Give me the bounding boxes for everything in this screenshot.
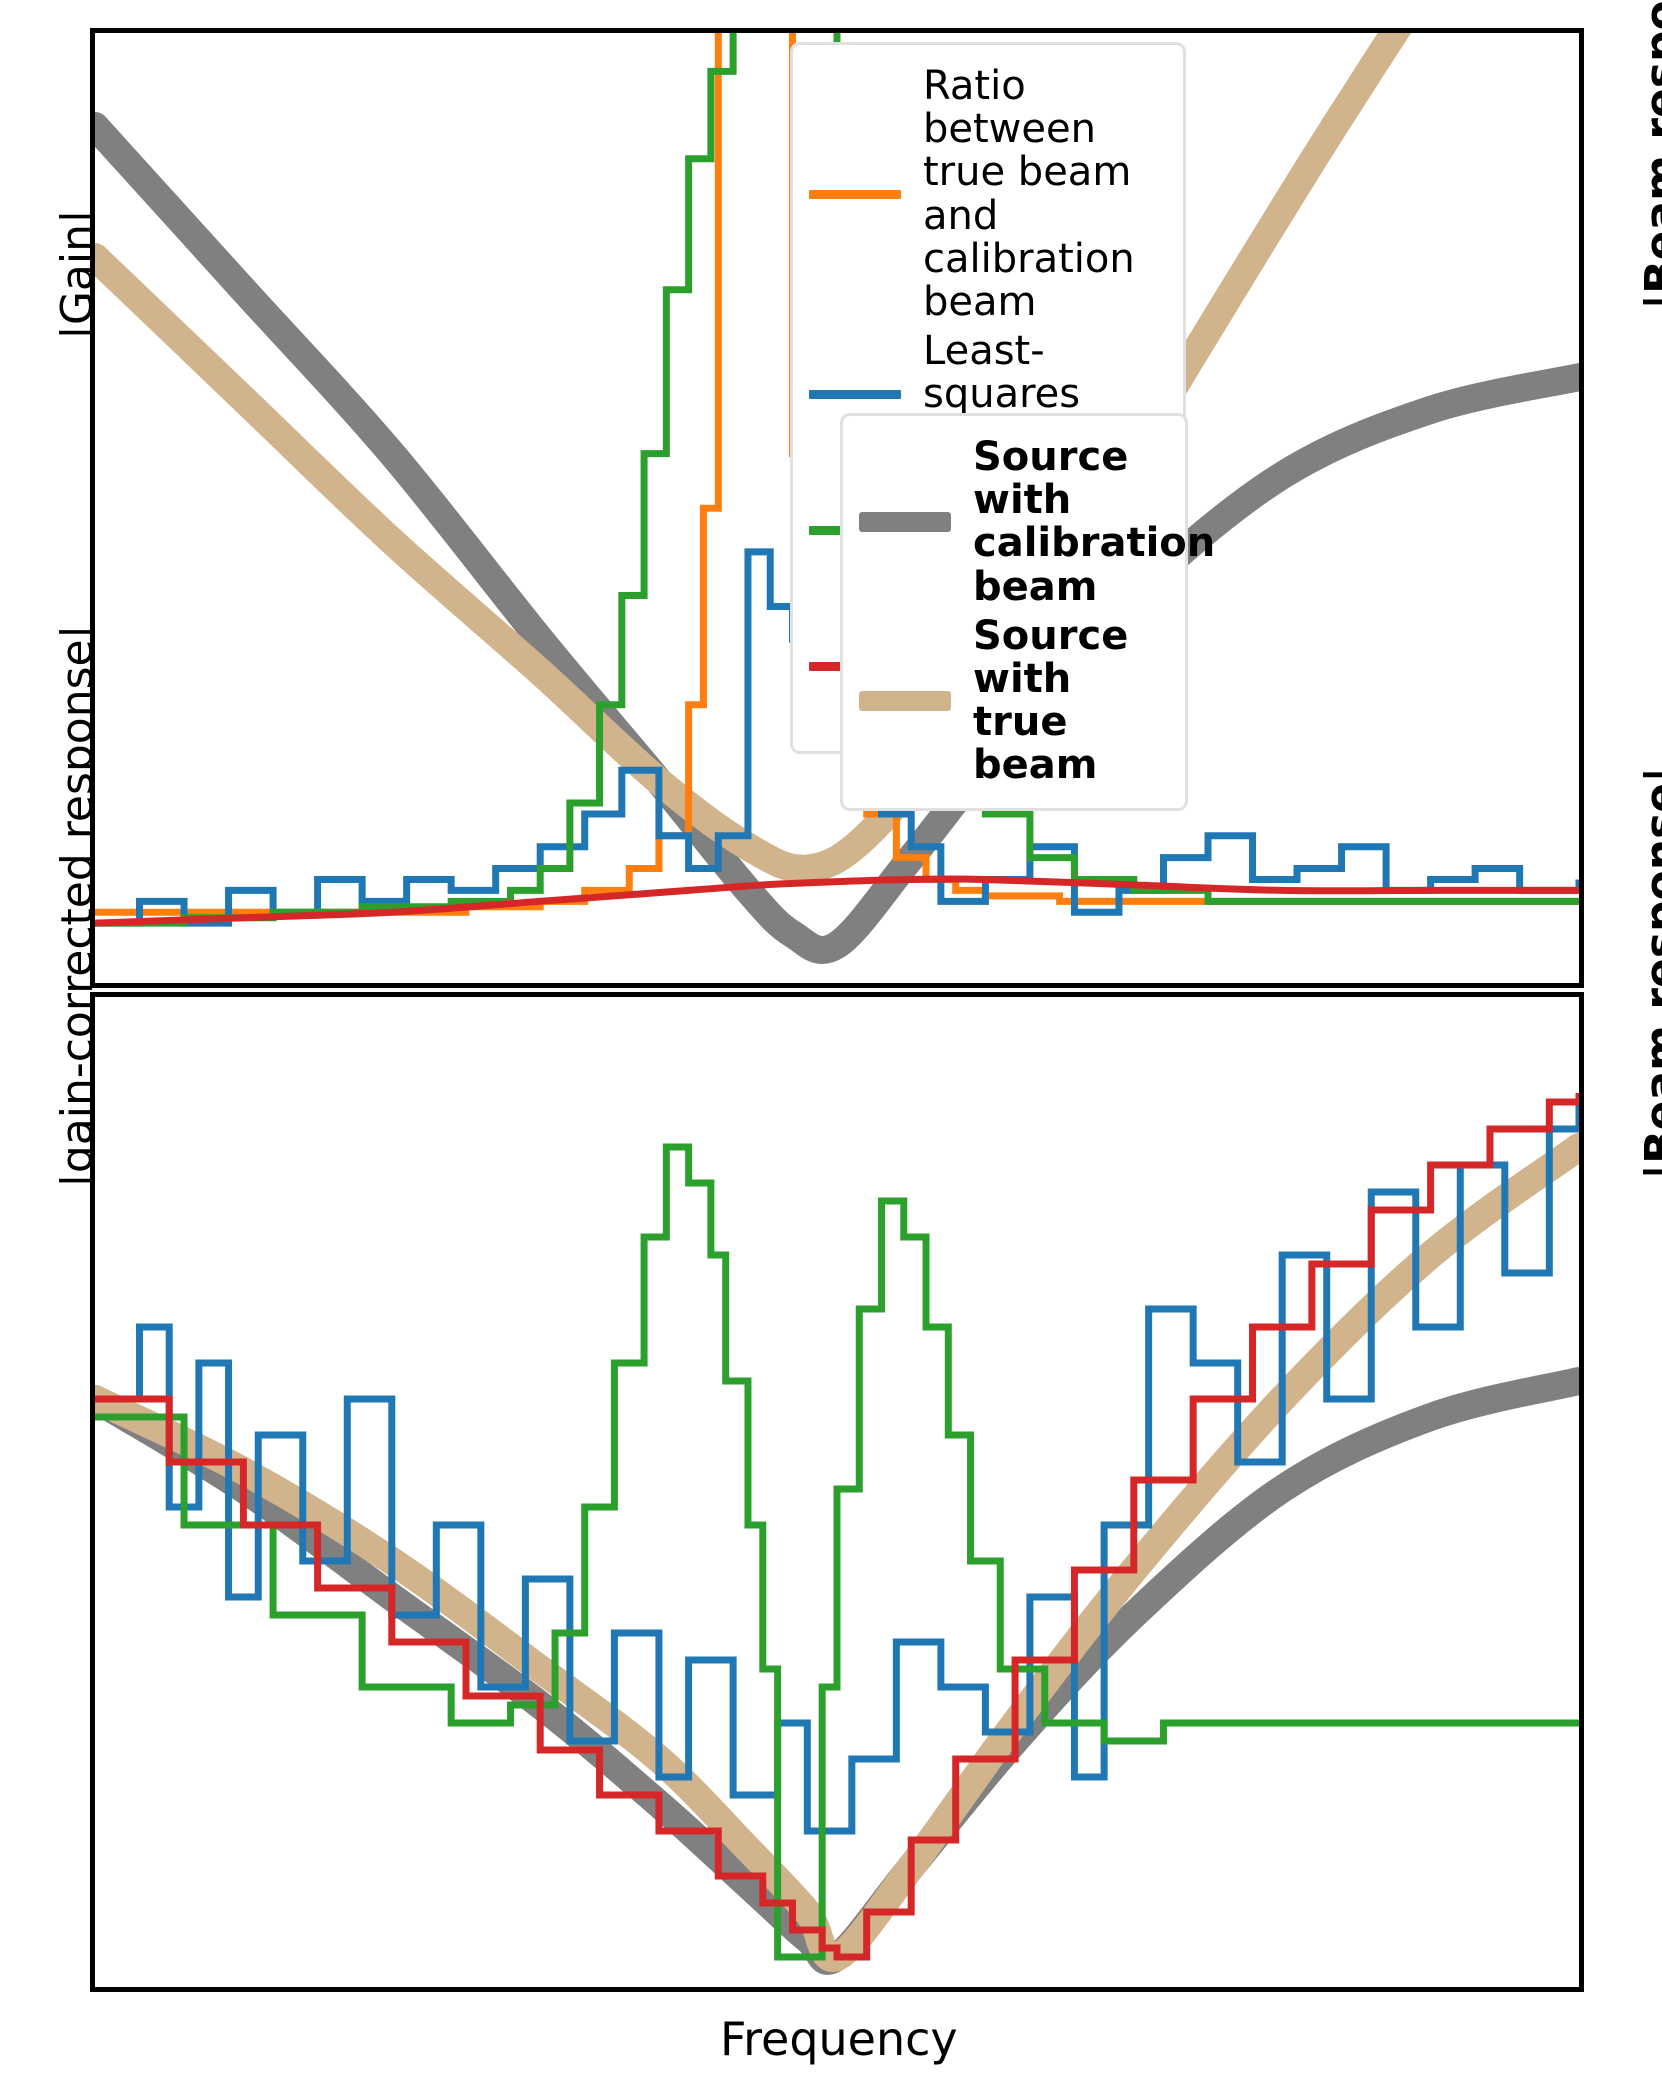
legend-source-entry-label: Source with calibration beam [973,436,1215,609]
legend-source-entry-color-swatch [859,512,951,532]
legend-main-entry-color-swatch [809,190,901,199]
legend-main-entry-label: Ratio between true beam and calibration … [923,65,1165,324]
legend-source-entry-row[interactable]: Source with calibration beam [859,436,1167,609]
x-axis-label: Frequency [720,2012,958,2066]
bottom-panel-svg [95,997,1579,1987]
figure-root: |Gain| |gain-corrected response| |Beam r… [0,0,1662,2077]
legend-source-entry-label: Source with true beam [973,615,1167,788]
legend-source: Source with calibration beamSource with … [840,413,1188,811]
legend-main-entry-color-swatch [809,390,901,399]
top-panel-ylabel-right: |Beam response| [1636,0,1662,310]
legend-main-entry-row[interactable]: Ratio between true beam and calibration … [809,65,1165,324]
legend-source-entry-row[interactable]: Source with true beam [859,615,1167,788]
legend-source-entry-color-swatch [859,691,951,711]
bottom-panel-plot-area [90,992,1584,1992]
bottom-panel-ylabel-right: |Beam response| [1636,767,1662,1180]
